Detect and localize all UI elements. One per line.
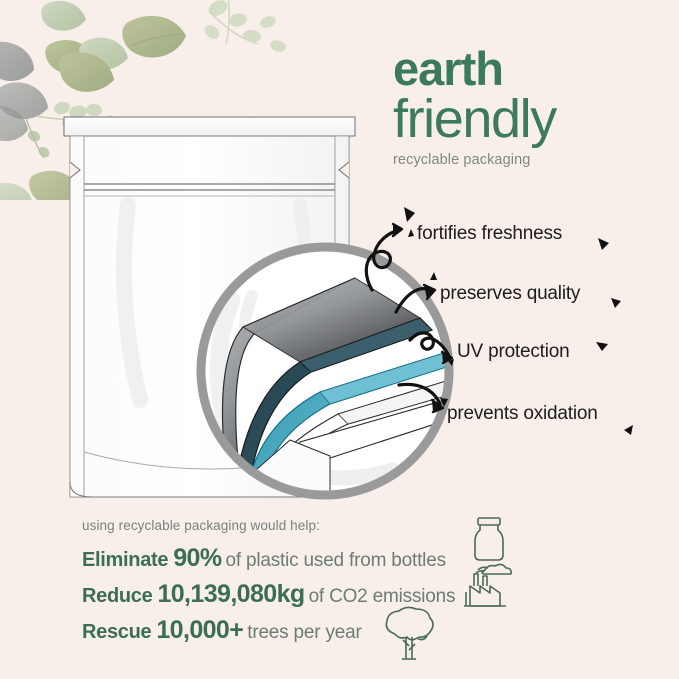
stat-description: of CO2 emissions (309, 586, 456, 607)
stat-verb: Rescue (82, 621, 151, 643)
stat-verb: Eliminate (82, 549, 168, 571)
stat-row-rescue: Rescue10,000+trees per year (82, 618, 602, 643)
tree-icon (378, 606, 440, 664)
impact-stats: using recyclable packaging would help: E… (82, 518, 602, 654)
feature-label-uv-protection: UV protection (457, 341, 570, 363)
headline-subtitle: recyclable packaging (393, 152, 668, 168)
stat-description: trees per year (247, 622, 361, 643)
stat-row-reduce: Reduce10,139,080kgof CO2 emissions (82, 582, 602, 607)
stat-value: 90% (173, 544, 221, 572)
headline-line-friendly: friendly (393, 93, 668, 146)
page-title: earth friendly recyclable packaging (393, 46, 668, 168)
feature-label-fortifies-freshness: fortifies freshness (417, 223, 562, 245)
stat-description: of plastic used from bottles (225, 550, 445, 571)
stat-verb: Reduce (82, 585, 152, 607)
feature-label-prevents-oxidation: prevents oxidation (447, 403, 598, 425)
infographic-canvas: earth friendly recyclable packaging fort… (0, 0, 679, 679)
factory-icon (462, 562, 516, 608)
headline-line-earth: earth (393, 46, 668, 91)
stat-row-eliminate: Eliminate90%of plastic used from bottles (82, 546, 602, 571)
bottle-icon (466, 515, 512, 563)
stat-value: 10,139,080kg (157, 580, 304, 608)
stat-value: 10,000+ (156, 616, 243, 644)
feature-label-preserves-quality: preserves quality (440, 283, 580, 305)
stats-intro-text: using recyclable packaging would help: (82, 518, 602, 533)
